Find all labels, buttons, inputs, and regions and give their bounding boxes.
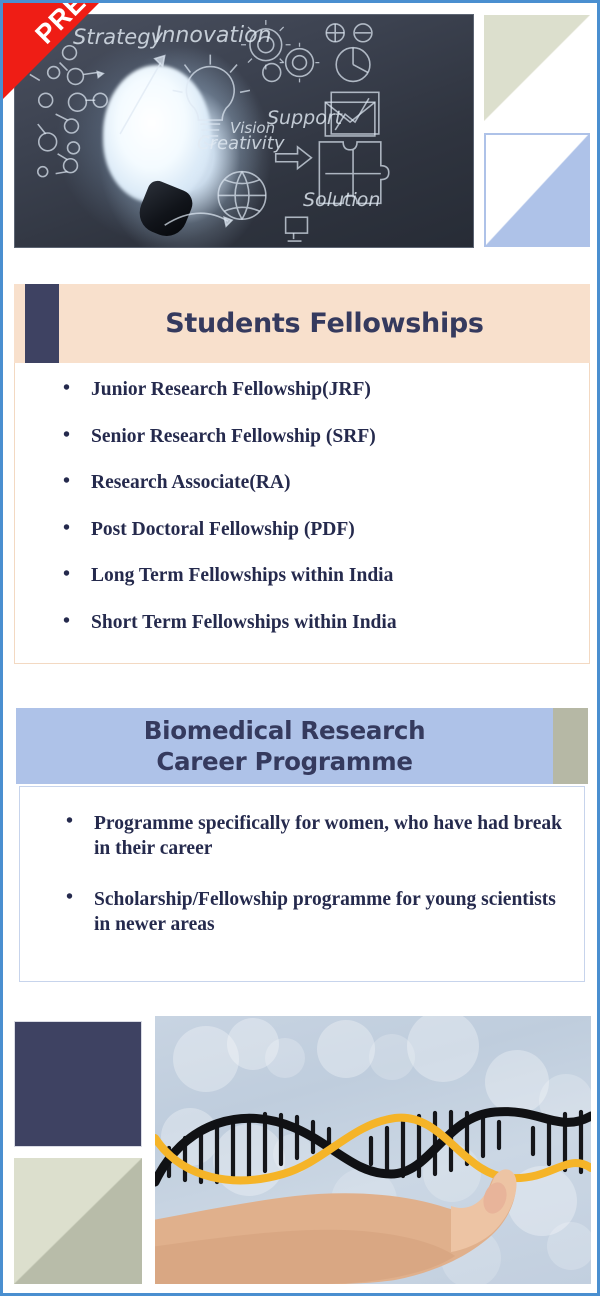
list-item: Long Term Fellowships within India: [35, 565, 569, 587]
students-fellowships-body: Junior Research Fellowship(JRF) Senior R…: [14, 363, 590, 664]
students-header-accent-tab: [25, 284, 59, 363]
decorative-blue-triangle-square-top: [484, 133, 590, 247]
chalk-word-innovation: Innovation: [155, 23, 271, 48]
students-fellowships-header: Students Fellowships: [14, 284, 590, 363]
hand-holding-dna-helix-photo: [155, 1016, 591, 1284]
chalk-word-support: Support: [267, 107, 342, 129]
list-item: Programme specifically for women, who ha…: [38, 811, 566, 861]
list-item: Scholarship/Fellowship programme for you…: [38, 887, 566, 937]
biomedical-title-line1: Biomedical Research: [144, 715, 426, 746]
biomedical-title: Biomedical Research Career Programme: [16, 708, 553, 784]
hand-silhouette: [155, 1169, 517, 1284]
biomedical-title-line2: Career Programme: [156, 746, 412, 777]
biomedical-research-career-programme-card: Biomedical Research Career Programme Pro…: [16, 708, 588, 982]
biomedical-list: Programme specifically for women, who ha…: [38, 811, 566, 937]
decorative-sage-triangle-square-bottom: [14, 1158, 142, 1284]
decorative-navy-square-bottom: [14, 1021, 142, 1147]
list-item: Short Term Fellowships within India: [35, 612, 569, 634]
slide-canvas: Strategy Innovation Vision Creativity Su…: [0, 0, 600, 1296]
chalk-word-creativity: Creativity: [197, 133, 285, 154]
biomedical-header: Biomedical Research Career Programme: [16, 708, 588, 784]
list-item: Post Doctoral Fellowship (PDF): [35, 519, 569, 541]
list-item: Senior Research Fellowship (SRF): [35, 426, 569, 448]
list-item: Research Associate(RA): [35, 472, 569, 494]
students-fellowships-card: Students Fellowships Junior Research Fel…: [14, 284, 590, 664]
list-item: Junior Research Fellowship(JRF): [35, 379, 569, 401]
decorative-sage-triangle-square-top: [484, 15, 590, 121]
prev-ribbon[interactable]: [3, 3, 99, 99]
chalk-word-solution: Solution: [303, 189, 380, 211]
biomedical-body: Programme specifically for women, who ha…: [19, 786, 585, 982]
students-fellowships-list: Junior Research Fellowship(JRF) Senior R…: [35, 379, 569, 634]
biomedical-header-accent-block: [553, 708, 588, 784]
dna-helix-graphic: [155, 1016, 591, 1284]
students-fellowships-title: Students Fellowships: [59, 284, 590, 363]
